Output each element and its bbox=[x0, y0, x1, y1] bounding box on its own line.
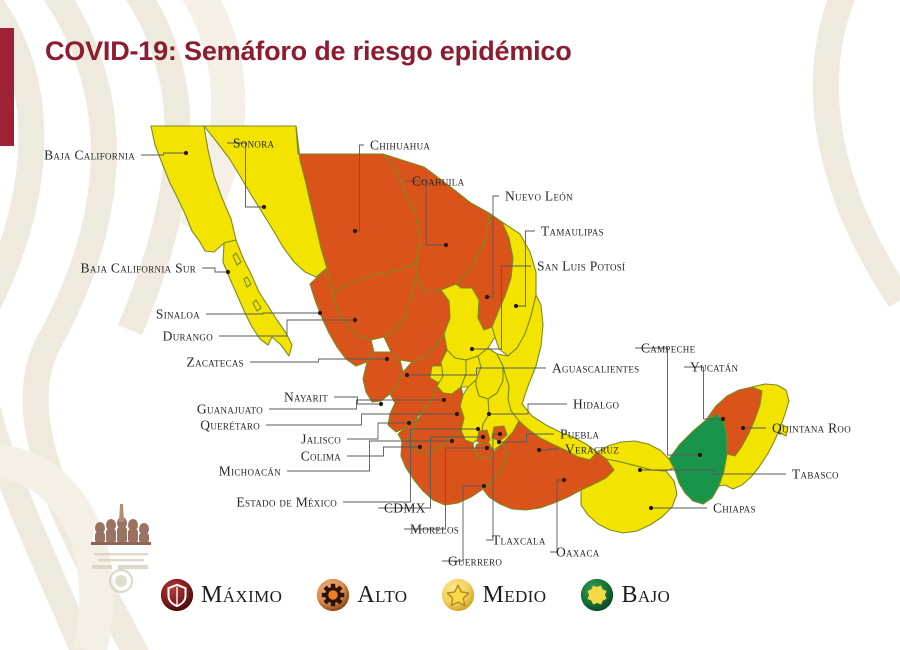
state-label-jalisco[interactable]: Jalisco bbox=[301, 432, 341, 446]
legend-item-alto[interactable]: Alto bbox=[316, 578, 407, 612]
state-dot-coahuila bbox=[444, 243, 448, 247]
star-icon bbox=[441, 578, 475, 612]
gear-icon bbox=[316, 578, 350, 612]
state-dot-quintana-roo bbox=[741, 426, 745, 430]
state-label-colima[interactable]: Colima bbox=[301, 449, 341, 463]
state-dot-tabasco bbox=[638, 468, 642, 472]
state-dot-guerrero bbox=[482, 484, 486, 488]
state-dot-campeche bbox=[698, 453, 702, 457]
state-dot-hidalgo bbox=[487, 412, 491, 416]
legend-item-medio[interactable]: Medio bbox=[441, 578, 546, 612]
leader-line-baja-california-sur bbox=[202, 268, 228, 272]
state-label-sonora[interactable]: Sonora bbox=[233, 136, 274, 150]
state-dot-veracruz bbox=[537, 448, 541, 452]
sunburst-icon bbox=[580, 578, 614, 612]
state-label-tamaulipas[interactable]: Tamaulipas bbox=[541, 224, 604, 238]
state-label-durango[interactable]: Durango bbox=[163, 329, 213, 343]
risk-legend: Máximo Alto bbox=[160, 578, 670, 612]
state-label-michoacan[interactable]: Michoacán bbox=[219, 464, 281, 478]
state-label-aguascalientes[interactable]: Aguascalientes bbox=[552, 361, 639, 375]
state-dot-durango bbox=[353, 318, 357, 322]
state-label-zacatecas[interactable]: Zacatecas bbox=[187, 355, 244, 369]
state-label-coahuila[interactable]: Coahuila bbox=[412, 174, 464, 188]
state-dot-chihuahua bbox=[353, 229, 357, 233]
state-dot-san-luis-potosi bbox=[470, 347, 474, 351]
legend-label-medio: Medio bbox=[482, 582, 546, 609]
legend-label-bajo: Bajo bbox=[621, 582, 670, 609]
state-dot-queretaro bbox=[455, 412, 459, 416]
state-dot-nayarit bbox=[379, 402, 383, 406]
state-label-guanajuato[interactable]: Guanajuato bbox=[197, 402, 263, 416]
state-dot-baja-california bbox=[184, 151, 188, 155]
state-dot-sonora bbox=[262, 205, 266, 209]
state-label-oaxaca[interactable]: Oaxaca bbox=[556, 545, 600, 559]
state-label-estado-de-mexico[interactable]: Estado de México bbox=[236, 495, 337, 509]
state-label-tabasco[interactable]: Tabasco bbox=[792, 467, 839, 481]
state-label-sinaloa[interactable]: Sinaloa bbox=[156, 307, 200, 321]
state-dot-morelos bbox=[485, 446, 489, 450]
state-dot-cdmx bbox=[481, 435, 485, 439]
state-label-tlaxcala[interactable]: Tlaxcala bbox=[492, 533, 546, 547]
state-label-hidalgo[interactable]: Hidalgo bbox=[573, 397, 619, 411]
state-label-san-luis-potosi[interactable]: San Luis Potosí bbox=[537, 259, 625, 273]
state-label-cdmx[interactable]: CDMX bbox=[384, 501, 426, 515]
legend-item-bajo[interactable]: Bajo bbox=[580, 578, 670, 612]
state-dot-baja-california-sur bbox=[226, 270, 230, 274]
leader-line-sinaloa bbox=[206, 313, 320, 314]
state-label-campeche[interactable]: Campeche bbox=[641, 341, 695, 355]
state-dot-tamaulipas bbox=[514, 304, 518, 308]
legend-label-alto: Alto bbox=[357, 582, 407, 609]
state-dot-yucatan bbox=[721, 417, 725, 421]
state-dot-estado-de-mexico bbox=[476, 427, 480, 431]
state-dot-guanajuato bbox=[442, 398, 446, 402]
state-label-baja-california-sur[interactable]: Baja California Sur bbox=[81, 261, 196, 275]
state-dot-aguascalientes bbox=[405, 373, 409, 377]
state-dot-nuevo-leon bbox=[485, 295, 489, 299]
state-dot-chiapas bbox=[649, 506, 653, 510]
state-label-baja-california[interactable]: Baja California bbox=[44, 148, 135, 162]
state-dot-tlaxcala bbox=[498, 432, 502, 436]
state-label-chihuahua[interactable]: Chihuahua bbox=[370, 138, 430, 152]
state-label-yucatan[interactable]: Yucatán bbox=[690, 360, 738, 374]
state-label-nuevo-leon[interactable]: Nuevo León bbox=[505, 189, 573, 203]
state-label-nayarit[interactable]: Nayarit bbox=[284, 390, 328, 404]
shield-icon bbox=[160, 578, 194, 612]
state-label-queretaro[interactable]: Querétaro bbox=[200, 418, 260, 432]
state-dot-puebla bbox=[497, 440, 501, 444]
state-dot-zacatecas bbox=[385, 357, 389, 361]
state-label-puebla[interactable]: Puebla bbox=[560, 427, 599, 441]
state-label-guerrero[interactable]: Guerrero bbox=[448, 554, 502, 568]
state-dot-michoacan bbox=[450, 439, 454, 443]
gobierno-de-mexico-emblem bbox=[78, 498, 164, 593]
state-campeche[interactable] bbox=[669, 414, 727, 504]
legend-label-maximo: Máximo bbox=[201, 582, 282, 609]
state-label-veracruz[interactable]: Veracruz bbox=[565, 442, 619, 456]
legend-item-maximo[interactable]: Máximo bbox=[160, 578, 282, 612]
state-dot-sinaloa bbox=[318, 311, 322, 315]
state-dot-colima bbox=[418, 445, 422, 449]
state-label-morelos[interactable]: Morelos bbox=[410, 522, 459, 536]
state-label-chiapas[interactable]: Chiapas bbox=[713, 501, 756, 515]
state-dot-oaxaca bbox=[562, 478, 566, 482]
state-label-quintana-roo[interactable]: Quintana Roo bbox=[772, 421, 851, 435]
state-dot-jalisco bbox=[407, 421, 411, 425]
